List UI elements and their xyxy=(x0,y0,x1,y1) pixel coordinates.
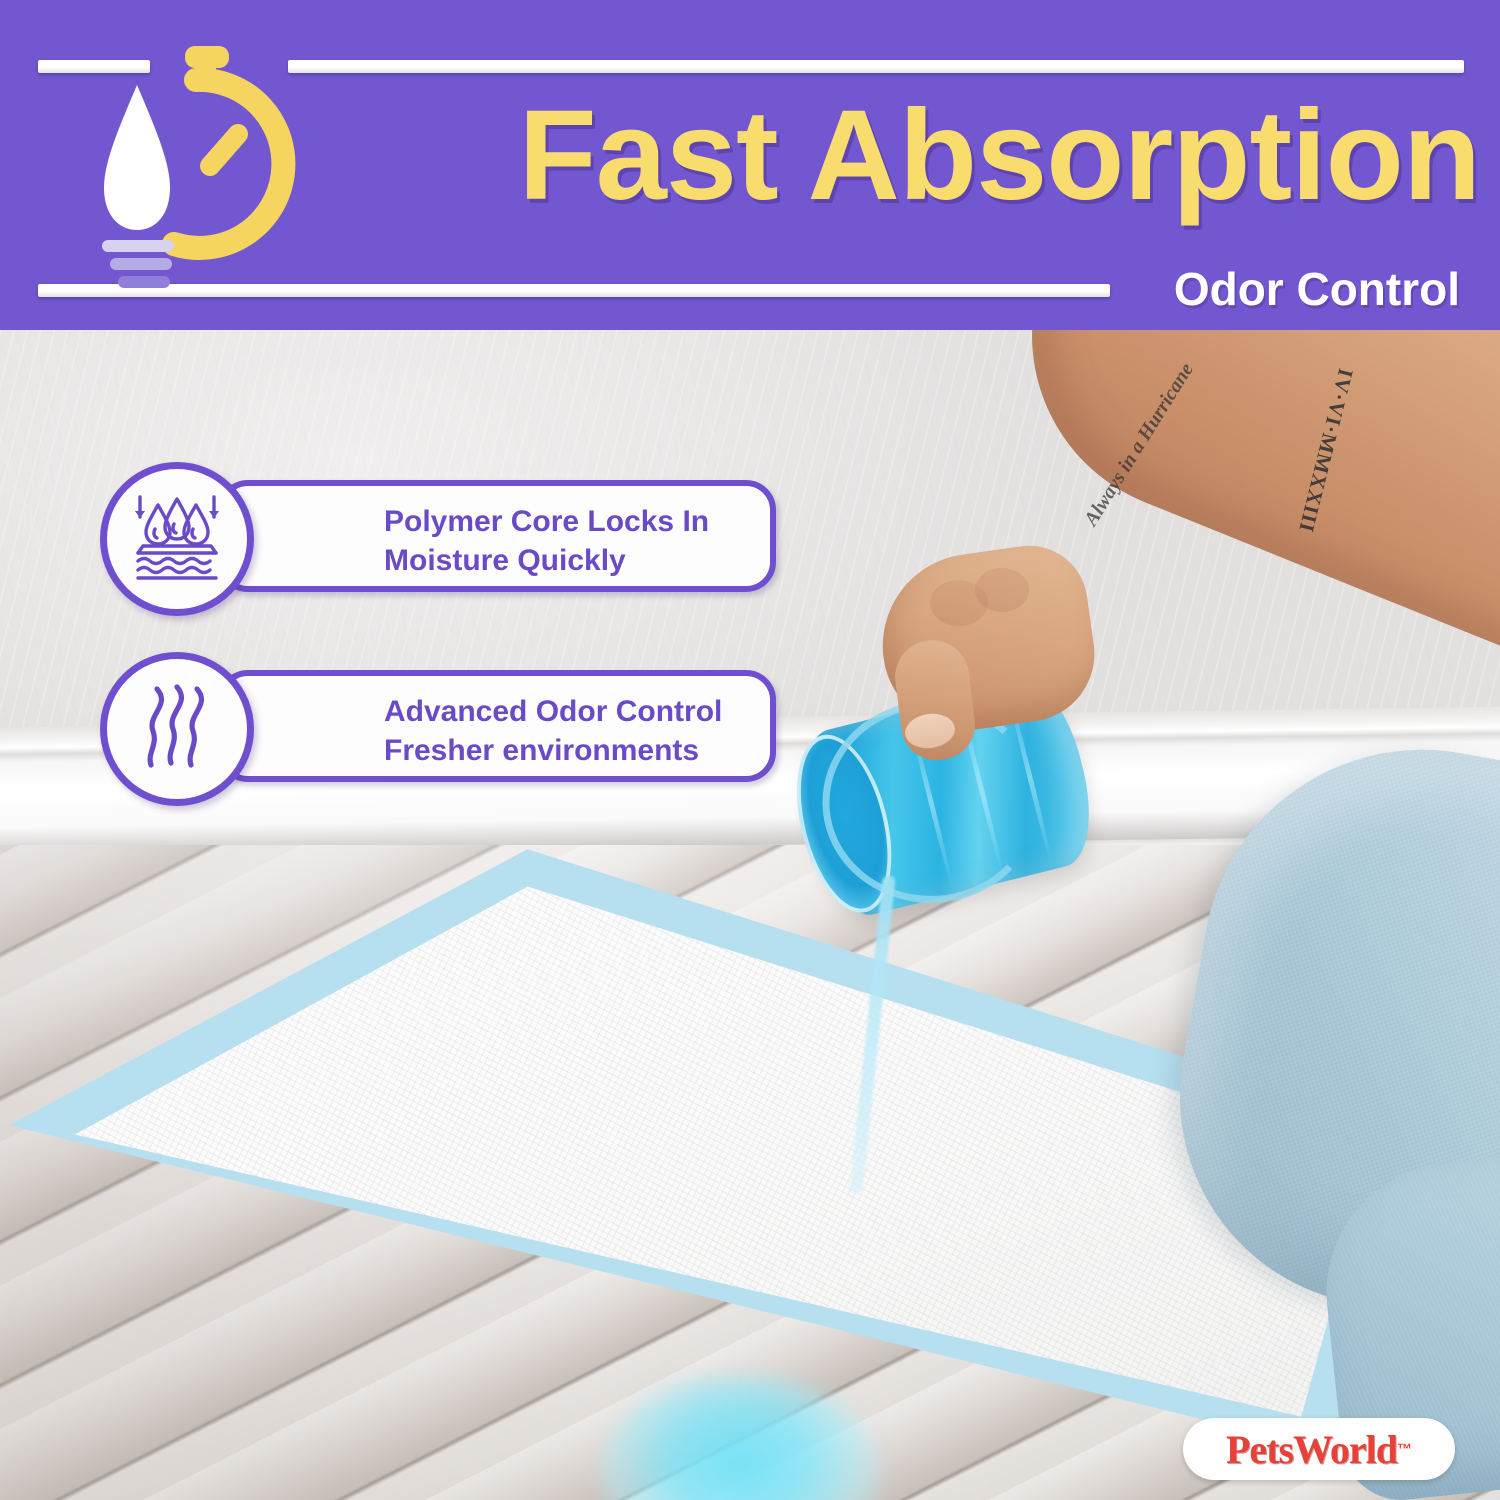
feature-icon-circle xyxy=(100,462,254,616)
header-subtitle: Odor Control xyxy=(1174,262,1460,316)
absorbed-liquid-stain xyxy=(600,1375,880,1500)
header-rule-top-right xyxy=(288,60,1464,73)
feature-text-line2: Fresher environments xyxy=(384,734,699,767)
absorbing-droplets-icon xyxy=(125,485,229,594)
feature-pill: Polymer Core Locks In Moisture Quickly xyxy=(218,480,776,592)
feature-text-line1: Polymer Core Locks In xyxy=(384,505,709,538)
odor-waves-icon xyxy=(131,679,223,780)
feature-icon-circle xyxy=(100,652,254,806)
trademark-symbol: ™ xyxy=(1397,1441,1412,1458)
feature-pill: Advanced Odor Control Fresher environmen… xyxy=(218,670,776,782)
brand-logo: PetsWorld™ xyxy=(1183,1418,1455,1480)
feature-text-line2: Moisture Quickly xyxy=(384,544,626,577)
page-title: Fast Absorption xyxy=(370,92,1480,220)
product-infographic: Fast Absorption Odor Control IV·VI·MMXXI… xyxy=(0,0,1500,1500)
water-drop-stopwatch-icon xyxy=(78,38,318,288)
brand-name: PetsWorld xyxy=(1226,1426,1397,1473)
feature-text-line1: Advanced Odor Control xyxy=(384,695,722,728)
header-banner: Fast Absorption Odor Control xyxy=(0,0,1500,332)
